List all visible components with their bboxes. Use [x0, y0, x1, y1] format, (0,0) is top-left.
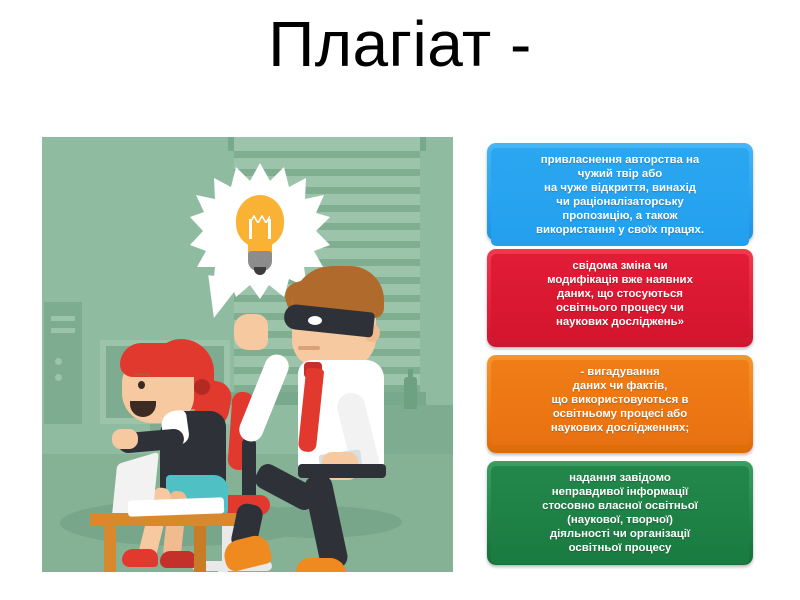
girl-shoe	[122, 549, 158, 567]
callout-box-blue-text: привласнення авторства на чужий твір або…	[491, 148, 749, 246]
desk-leg	[194, 526, 206, 572]
girl-eyebrow	[134, 373, 150, 376]
callout-box-orange[interactable]: - вигадування даних чи фактів, що викори…	[487, 355, 753, 453]
callout-box-green[interactable]: надання завідомо неправдивої інформації …	[487, 461, 753, 565]
girl-hand	[112, 429, 138, 449]
laptop-keyboard	[128, 497, 224, 516]
computer-tower-icon	[44, 302, 82, 424]
callout-box-blue[interactable]: привласнення авторства на чужий твір або…	[487, 143, 753, 241]
man-boot	[296, 558, 346, 572]
girl-hair-band	[194, 379, 210, 395]
man-hand	[234, 314, 268, 350]
girl-shoe	[160, 551, 196, 568]
callout-box-orange-text: - вигадування даних чи фактів, що викори…	[491, 360, 749, 445]
masked-man-sneaking	[240, 252, 440, 572]
callout-box-red[interactable]: свідома зміна чи модифікація вже наявних…	[487, 249, 753, 347]
callout-box-red-text: свідома зміна чи модифікація вже наявних…	[491, 254, 749, 339]
girl-fringe	[120, 343, 204, 377]
girl-eye	[138, 381, 145, 389]
man-mouth	[298, 346, 320, 350]
desk-leg	[104, 526, 116, 572]
presentation-slide: Плагіат -	[0, 0, 800, 600]
page-title: Плагіат -	[0, 8, 800, 82]
man-raised-arm	[236, 351, 293, 445]
filament-zigzag-icon	[250, 215, 270, 223]
illustration-image	[42, 137, 453, 572]
man-eye	[308, 316, 322, 325]
callout-box-green-text: надання завідомо неправдивої інформації …	[491, 466, 749, 564]
callout-box-list: привласнення авторства на чужий твір або…	[487, 143, 753, 565]
